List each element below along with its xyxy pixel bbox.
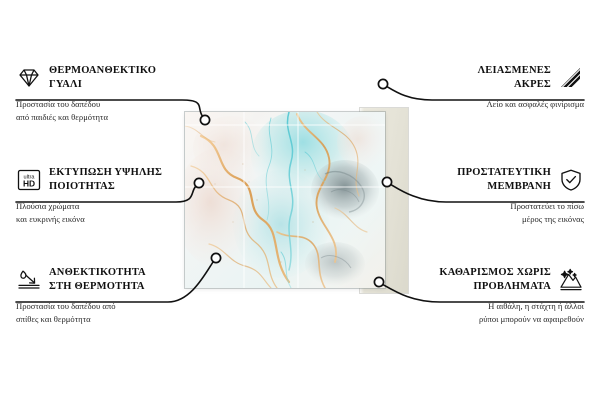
feature-header: ΘΕΡΜΟΑΝΘΕΚΤΙΚΟ ΓΥΑΛΙ bbox=[16, 64, 196, 92]
feature-high-quality-print: ultra HD ΕΚΤΥΠΩΣΗ ΥΨΗΛΗΣ ΠΟΙΟΤΗΤΑΣ Πλούσ… bbox=[16, 166, 196, 225]
feature-title: ΕΚΤΥΠΩΣΗ ΥΨΗΛΗΣ ΠΟΙΟΤΗΤΑΣ bbox=[49, 166, 162, 194]
feature-description: Προστασία του δαπέδου από παιδιές και θε… bbox=[16, 98, 196, 123]
marble-artwork bbox=[185, 112, 385, 288]
shield-check-icon bbox=[558, 168, 584, 192]
feature-header: ΚΑΘΑΡΙΣΜΟΣ ΧΩΡΙΣ ΠΡΟΒΛΗΜΑΤΑ bbox=[404, 266, 584, 294]
diamond-icon bbox=[16, 66, 42, 90]
feature-heat-durability: ΑΝΘΕΚΤΙΚΟΤΗΤΑ ΣΤΗ ΘΕΡΜΟΤΗΤΑ Προστασία το… bbox=[16, 266, 196, 325]
feature-description: Πλούσια χρώματα και ευκρινής εικόνα bbox=[16, 200, 196, 225]
feature-header: ΠΡΟΣΤΑΤΕΥΤΙΚΗ ΜΕΜΒΡΑΝΗ bbox=[404, 166, 584, 194]
infographic-canvas: ΘΕΡΜΟΑΝΘΕΚΤΙΚΟ ΓΥΑΛΙ Προστασία του δαπέδ… bbox=[0, 0, 600, 400]
flame-surface-icon bbox=[16, 268, 42, 292]
feature-protective-membrane: ΠΡΟΣΤΑΤΕΥΤΙΚΗ ΜΕΜΒΡΑΝΗ Προστατεύει το πί… bbox=[404, 166, 584, 225]
hatched-triangle-icon bbox=[558, 66, 584, 90]
feature-title: ΠΡΟΣΤΑΤΕΥΤΙΚΗ ΜΕΜΒΡΑΝΗ bbox=[457, 166, 551, 194]
feature-title: ΘΕΡΜΟΑΝΘΕΚΤΙΚΟ ΓΥΑΛΙ bbox=[49, 64, 156, 92]
feature-heat-resistant-glass: ΘΕΡΜΟΑΝΘΕΚΤΙΚΟ ΓΥΑΛΙ Προστασία του δαπέδ… bbox=[16, 64, 196, 123]
ultra-hd-icon: ultra HD bbox=[16, 168, 42, 192]
feature-title: ΛΕΙΑΣΜΕΝΕΣ ΑΚΡΕΣ bbox=[478, 64, 551, 92]
feature-header: ΛΕΙΑΣΜΕΝΕΣ ΑΚΡΕΣ bbox=[404, 64, 584, 92]
glass-panel bbox=[185, 112, 385, 288]
feature-description: Προστασία του δαπέδου από σπίθες και θερ… bbox=[16, 300, 196, 325]
feature-description: Λείο και ασφαλές φινίρισμα bbox=[404, 98, 584, 111]
feature-title: ΑΝΘΕΚΤΙΚΟΤΗΤΑ ΣΤΗ ΘΕΡΜΟΤΗΤΑ bbox=[49, 266, 146, 294]
svg-text:HD: HD bbox=[23, 179, 35, 189]
product-image bbox=[185, 112, 385, 288]
feature-title: ΚΑΘΑΡΙΣΜΟΣ ΧΩΡΙΣ ΠΡΟΒΛΗΜΑΤΑ bbox=[439, 266, 551, 294]
sparkle-surface-icon bbox=[558, 268, 584, 292]
feature-smoothed-edges: ΛΕΙΑΣΜΕΝΕΣ ΑΚΡΕΣ Λείο και ασ bbox=[404, 64, 584, 111]
feature-easy-cleaning: ΚΑΘΑΡΙΣΜΟΣ ΧΩΡΙΣ ΠΡΟΒΛΗΜΑΤΑ Η αιθάλη, η … bbox=[404, 266, 584, 325]
connector-dot bbox=[378, 79, 387, 88]
feature-header: ΑΝΘΕΚΤΙΚΟΤΗΤΑ ΣΤΗ ΘΕΡΜΟΤΗΤΑ bbox=[16, 266, 196, 294]
feature-header: ultra HD ΕΚΤΥΠΩΣΗ ΥΨΗΛΗΣ ΠΟΙΟΤΗΤΑΣ bbox=[16, 166, 196, 194]
feature-description: Η αιθάλη, η στάχτη ή άλλοι ρύποι μπορούν… bbox=[404, 300, 584, 325]
feature-description: Προστατεύει το πίσω μέρος της εικόνας bbox=[404, 200, 584, 225]
